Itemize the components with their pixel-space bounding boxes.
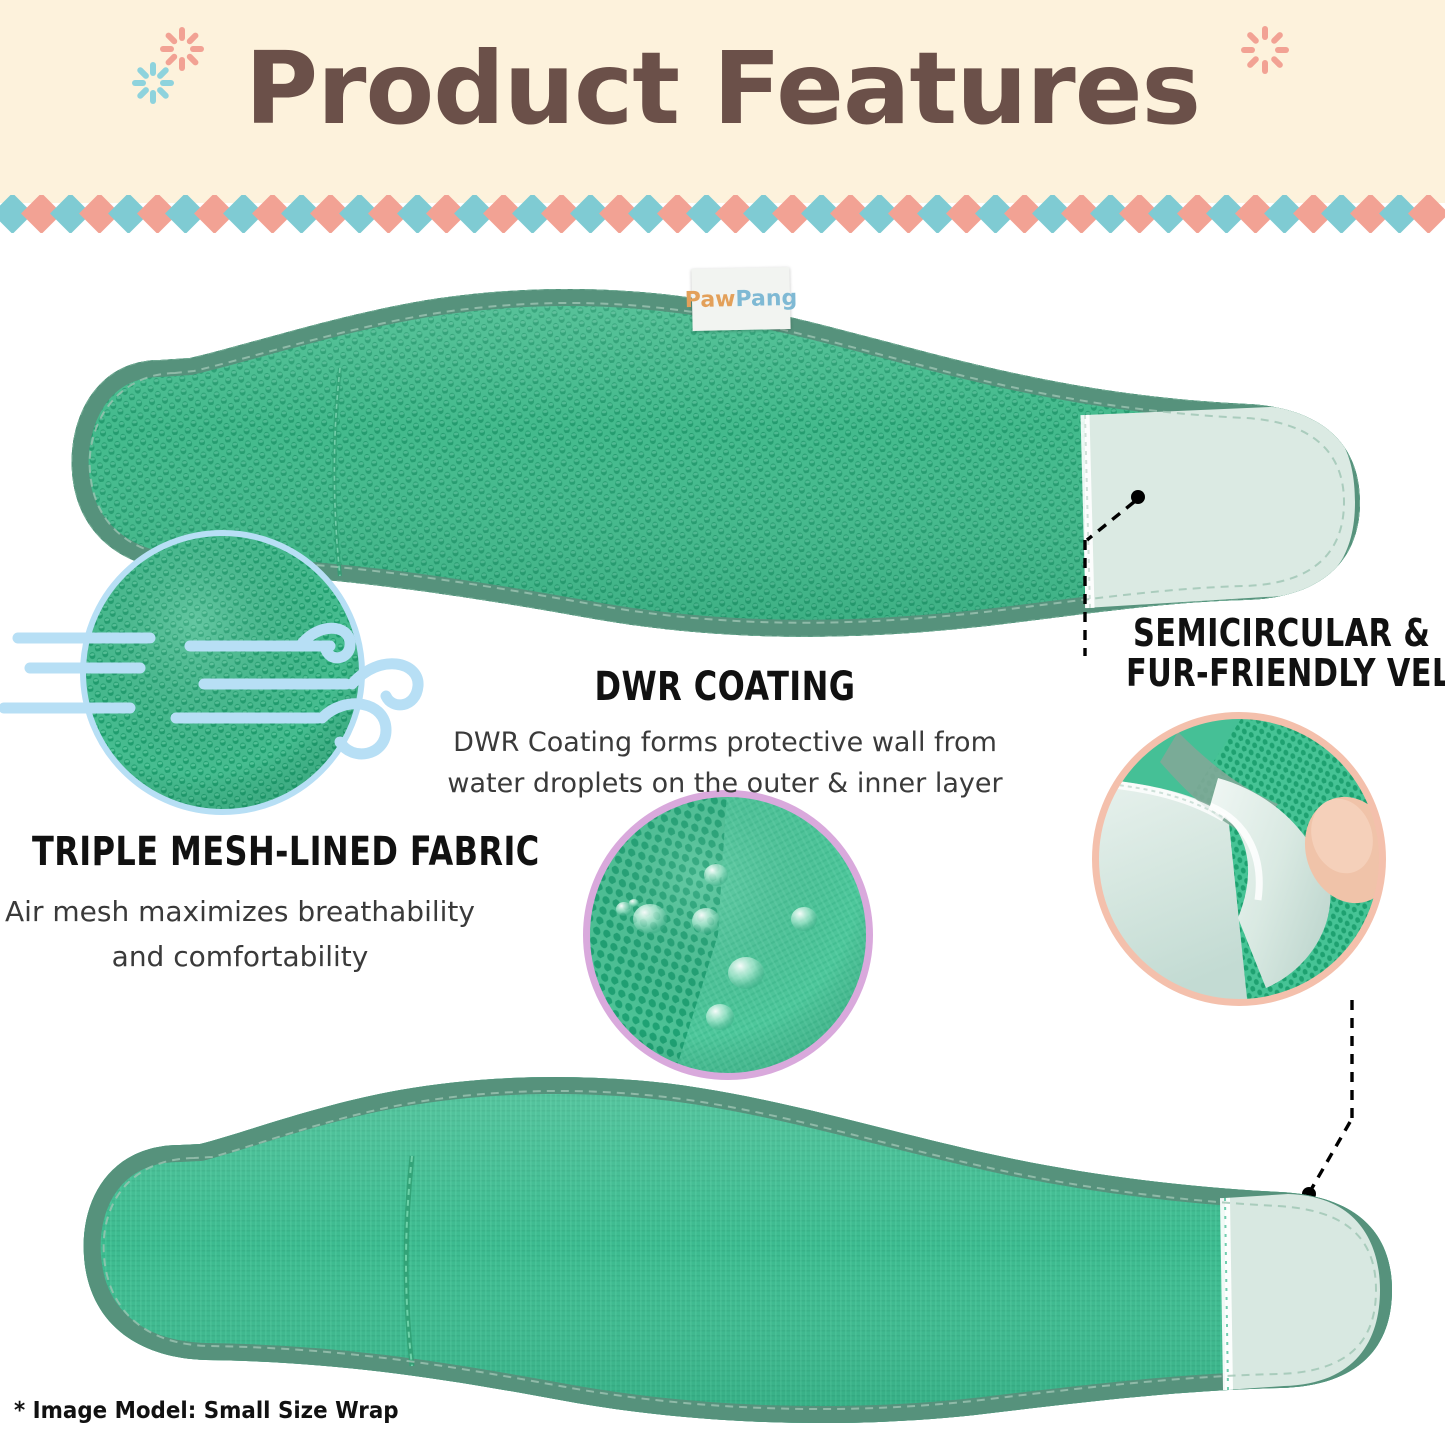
diamond-tile (1408, 195, 1445, 233)
brand-label-tag: PawPang (691, 267, 790, 331)
feature-title-dwr-coating: DWR COATING (501, 665, 949, 710)
feature-title-velcro-line1: SEMICIRCULAR & (1133, 612, 1413, 655)
brand-label-text: PawPang (685, 285, 798, 312)
infographic-root: Product Features (0, 0, 1445, 1445)
feature-body-dwr-line1: DWR Coating forms protective wall from (445, 722, 1005, 764)
feature-body-triple-mesh-line1: Air mesh maximizes breathability (0, 890, 500, 933)
inset-velcro (1098, 718, 1380, 1000)
feature-body-dwr-line2: water droplets on the outer & inner laye… (445, 763, 1005, 805)
feature-body-triple-mesh-line2: and comfortability (0, 935, 500, 978)
product-bottom-wrap (40, 1040, 1420, 1445)
footnote-text: * Image Model: Small Size Wrap (14, 1398, 399, 1424)
feature-title-triple-mesh: TRIPLE MESH-LINED FABRIC (32, 830, 448, 875)
brand-pang-text: Pang (735, 285, 797, 311)
brand-paw-text: Paw (685, 287, 736, 313)
inset-dwr-coating (588, 795, 868, 1075)
diamond-border (0, 195, 1445, 233)
wind-airflow-icon (0, 590, 440, 820)
page-title: Product Features (0, 26, 1445, 151)
feature-title-velcro-line2: FUR-FRIENDLY VELCRO (1126, 652, 1414, 695)
